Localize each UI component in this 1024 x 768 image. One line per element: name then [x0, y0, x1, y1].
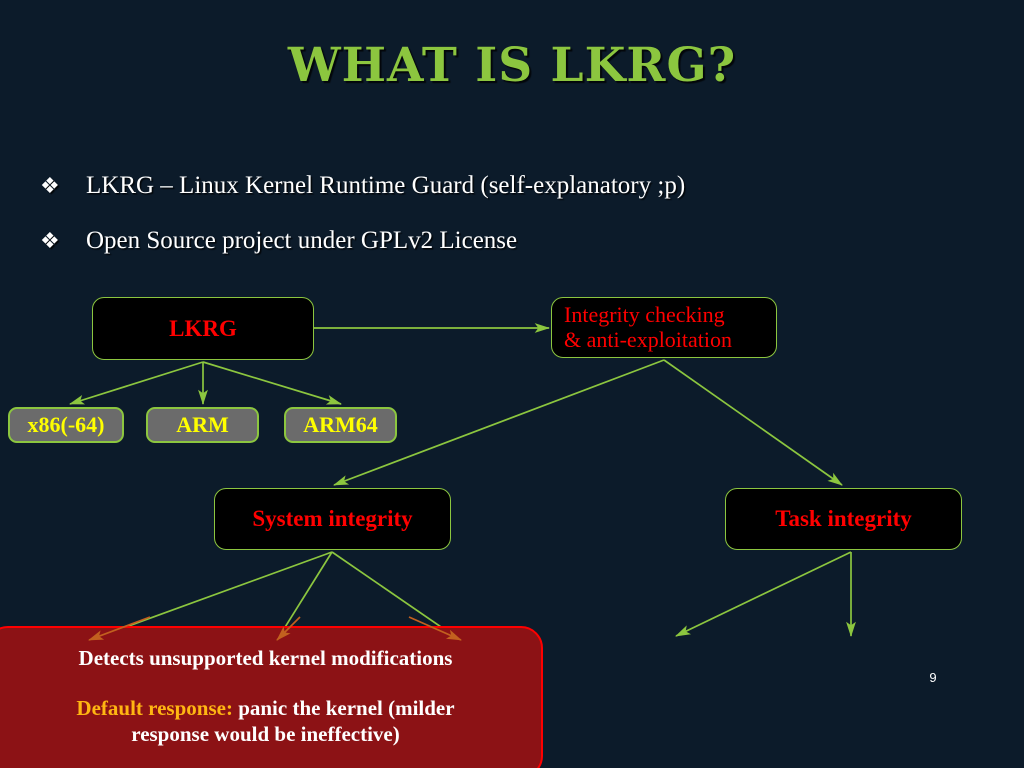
node-lkrg-label: LKRG	[169, 316, 237, 342]
callout-line-2-text: panic the kernel (milder	[233, 696, 455, 720]
edge-lkrg-to-arm64	[203, 362, 341, 404]
bullet-item-0: ❖ LKRG – Linux Kernel Runtime Guard (sel…	[40, 172, 685, 200]
node-arm[interactable]: ARM	[146, 407, 259, 443]
bullet-text-1: Open Source project under GPLv2 License	[86, 227, 517, 255]
page-title: WHAT IS LKRG?	[0, 38, 1024, 93]
node-arm-label: ARM	[176, 412, 229, 438]
node-task-integrity-label: Task integrity	[775, 506, 912, 532]
node-lkrg[interactable]: LKRG	[92, 297, 314, 360]
callout-line-3: response would be ineffective)	[6, 721, 525, 747]
node-integrity-checking-label: Integrity checking & anti-exploitation	[564, 303, 732, 352]
bullet-item-1: ❖ Open Source project under GPLv2 Licens…	[40, 227, 517, 255]
node-integrity-line-2: & anti-exploitation	[564, 327, 732, 352]
callout-box: Detects unsupported kernel modifications…	[0, 626, 543, 768]
node-arm64-label: ARM64	[303, 412, 378, 438]
bullet-text-0: LKRG – Linux Kernel Runtime Guard (self-…	[86, 172, 685, 200]
edge-task-integrity-to-offslide-left	[676, 552, 851, 636]
page-number: 9	[920, 670, 946, 685]
node-task-integrity[interactable]: Task integrity	[725, 488, 962, 550]
bullet-diamond-icon: ❖	[40, 228, 86, 254]
edge-lkrg-to-x86	[70, 362, 203, 404]
node-system-integrity[interactable]: System integrity	[214, 488, 451, 550]
node-integrity-line-1: Integrity checking	[564, 302, 725, 327]
node-arm64[interactable]: ARM64	[284, 407, 397, 443]
bullet-diamond-icon: ❖	[40, 173, 86, 199]
callout-line-2: Default response: panic the kernel (mild…	[6, 695, 525, 721]
callout-line-1: Detects unsupported kernel modifications	[6, 645, 525, 671]
node-x86-label: x86(-64)	[28, 412, 105, 438]
edge-integrity-to-task-integrity	[664, 360, 842, 485]
node-x86[interactable]: x86(-64)	[8, 407, 124, 443]
slide-canvas: WHAT IS LKRG? ❖ LKRG – Linux Kernel Runt…	[0, 0, 1024, 768]
node-integrity-checking[interactable]: Integrity checking & anti-exploitation	[551, 297, 777, 358]
node-system-integrity-label: System integrity	[252, 506, 412, 532]
callout-default-response-label: Default response:	[76, 696, 233, 720]
